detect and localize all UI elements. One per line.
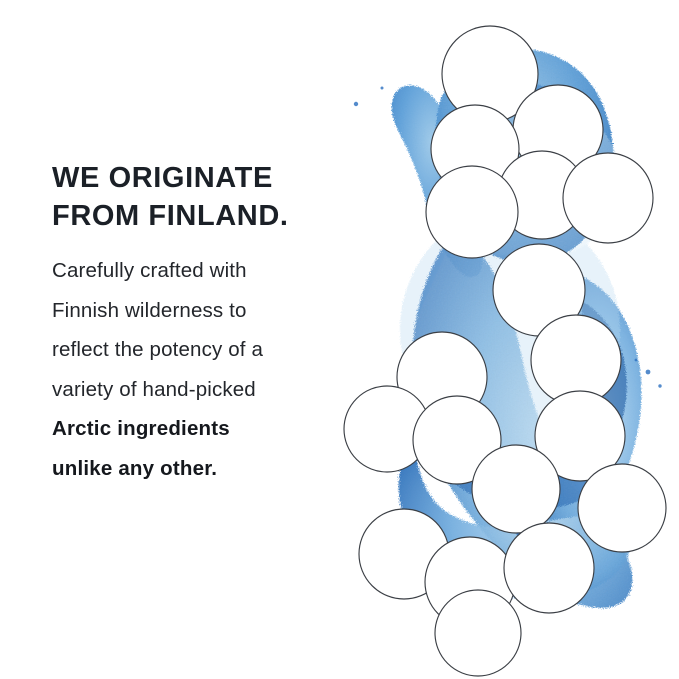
medallion-ring-spruce-sprig: [504, 523, 594, 613]
medallion-rowan-leaf: Rowan / willow leaves: [472, 445, 560, 533]
medallion-ring-meadowsweet: [563, 153, 653, 243]
body-line-4: variety of hand-picked: [52, 380, 352, 401]
medallion-spruce-sprig: Spruce sprig: [504, 523, 594, 613]
medallion-bilberry: Bilberry: [426, 166, 519, 258]
medallion-ring-chanterelle: [578, 464, 666, 552]
medallion-meadowsweet: Meadowsweet / elderflower: [563, 153, 653, 243]
watercolor-map-artwork: Crowberry & heather sprigsCloudberryBirc…: [330, 0, 679, 679]
medallion-ring-rowan-leaf: [472, 445, 560, 533]
poster-canvas: WE ORIGINATE FROM FINLAND. Carefully cra…: [0, 0, 679, 679]
body-line-1: Carefully crafted with: [52, 261, 352, 282]
body-line-2: Finnish wilderness to: [52, 301, 352, 322]
medallion-ring-bilberry: [426, 166, 518, 258]
page-title: WE ORIGINATE FROM FINLAND.: [52, 160, 352, 235]
body-line-3: reflect the potency of a: [52, 340, 352, 361]
body-line-6: unlike any other.: [52, 459, 352, 480]
copy-block: WE ORIGINATE FROM FINLAND. Carefully cra…: [52, 160, 352, 498]
body-copy: Carefully crafted withFinnish wilderness…: [52, 261, 352, 479]
medallion-chanterelle: Chanterelle mushrooms: [578, 464, 666, 552]
body-line-5: Arctic ingredients: [52, 419, 352, 440]
medallion-ring-fireweed: [435, 590, 521, 676]
